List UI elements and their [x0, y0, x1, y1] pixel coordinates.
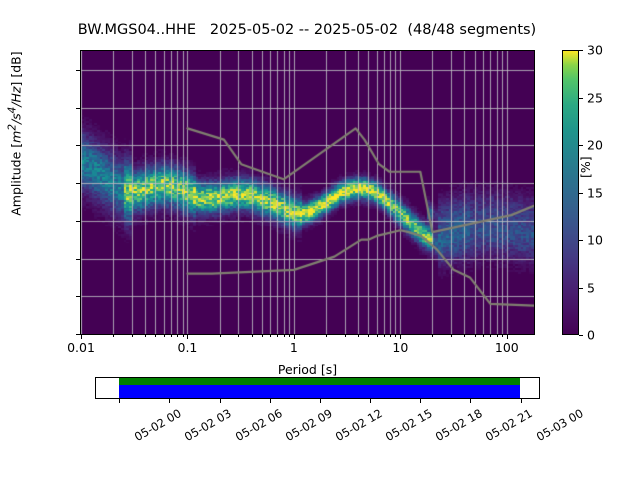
x-tick-mark-minor: [464, 335, 465, 337]
x-tick-mark-minor: [145, 335, 146, 337]
colorbar-tick-label: 15: [587, 185, 603, 200]
colorbar: [562, 50, 579, 335]
timeline-tick-label: 05-02 00: [132, 406, 184, 444]
colorbar-tick-label: 5: [587, 280, 595, 295]
x-tick-label: 100: [495, 340, 519, 355]
x-tick-label: 0.01: [67, 340, 95, 355]
timeline-tick-label: 05-02 15: [383, 406, 435, 444]
colorbar-tick-mark: [579, 240, 583, 241]
x-tick-mark-minor: [183, 335, 184, 337]
timeline-tick-mark: [220, 399, 221, 403]
ppsd-figure: BW.MGS04..HHE 2025-05-02 -- 2025-05-02 (…: [0, 0, 640, 480]
x-tick-mark-minor: [390, 335, 391, 337]
y-axis-label: Amplitude [m2/s4/Hz] [dB]: [6, 0, 23, 299]
timeline-tick-mark: [119, 399, 120, 403]
timeline-tick-label: 05-02 03: [182, 406, 234, 444]
colorbar-tick-label: 30: [587, 43, 603, 58]
x-tick-mark-minor: [395, 335, 396, 337]
ppsd-plot-area[interactable]: [80, 50, 535, 335]
x-tick-mark-minor: [220, 335, 221, 337]
x-tick-mark-minor: [326, 335, 327, 337]
colorbar-tick-label: 0: [587, 328, 595, 343]
x-tick-label: 0.1: [178, 340, 198, 355]
x-tick-mark-minor: [252, 335, 253, 337]
x-tick-mark-major: [81, 335, 82, 339]
timeline-tick-label: 05-02 21: [483, 406, 535, 444]
x-tick-mark-minor: [368, 335, 369, 337]
x-tick-mark-minor: [132, 335, 133, 337]
colorbar-tick-mark: [579, 335, 583, 336]
x-tick-mark-minor: [432, 335, 433, 337]
x-tick-mark-minor: [238, 335, 239, 337]
psd-coverage-bar: [119, 385, 520, 397]
timeline-tick-label: 05-03 00: [534, 406, 586, 444]
colorbar-tick-mark: [579, 50, 583, 51]
x-tick-mark-minor: [502, 335, 503, 337]
x-tick-label: 1: [290, 340, 298, 355]
x-tick-mark-major: [294, 335, 295, 339]
x-tick-mark-minor: [113, 335, 114, 337]
timeline-tick-label: 05-02 09: [283, 406, 335, 444]
grid-and-noise-model-overlay: [81, 51, 534, 334]
x-tick-mark-minor: [155, 335, 156, 337]
x-tick-mark-minor: [490, 335, 491, 337]
x-axis-label: Period [s]: [80, 362, 535, 377]
timeline-tick-label: 05-02 06: [232, 406, 284, 444]
x-tick-mark-minor: [262, 335, 263, 337]
x-tick-mark-minor: [497, 335, 498, 337]
colorbar-tick-label: 25: [587, 90, 603, 105]
x-tick-mark-minor: [177, 335, 178, 337]
colorbar-tick-label: 20: [587, 138, 603, 153]
timeline-tick-mark: [169, 399, 170, 403]
timeline-tick-mark: [521, 399, 522, 403]
x-tick-mark-minor: [451, 335, 452, 337]
timeline-tick-mark: [320, 399, 321, 403]
timeline-tick-label: 05-02 18: [433, 406, 485, 444]
x-tick-mark-minor: [475, 335, 476, 337]
page-title: BW.MGS04..HHE 2025-05-02 -- 2025-05-02 (…: [0, 22, 614, 38]
x-tick-mark-minor: [284, 335, 285, 337]
x-tick-label: 10: [392, 340, 408, 355]
x-tick-mark-major: [507, 335, 508, 339]
x-tick-mark-minor: [277, 335, 278, 337]
data-availability-bar: [119, 378, 520, 385]
timeline-tick-mark: [470, 399, 471, 403]
timeline-coverage-axes[interactable]: [95, 377, 540, 399]
x-tick-mark-minor: [270, 335, 271, 337]
x-tick-mark-minor: [345, 335, 346, 337]
timeline-tick-label: 05-02 12: [333, 406, 385, 444]
x-tick-mark-minor: [483, 335, 484, 337]
colorbar-tick-mark: [579, 288, 583, 289]
x-tick-mark-minor: [171, 335, 172, 337]
colorbar-tick-mark: [579, 193, 583, 194]
x-tick-mark-minor: [164, 335, 165, 337]
x-tick-mark-minor: [384, 335, 385, 337]
x-tick-mark-minor: [377, 335, 378, 337]
x-tick-mark-minor: [358, 335, 359, 337]
colorbar-label: [%]: [578, 156, 593, 178]
timeline-tick-mark: [370, 399, 371, 403]
colorbar-tick-label: 10: [587, 233, 603, 248]
x-tick-mark-minor: [289, 335, 290, 337]
x-tick-mark-major: [400, 335, 401, 339]
colorbar-tick-mark: [579, 145, 583, 146]
timeline-tick-mark: [270, 399, 271, 403]
colorbar-tick-mark: [579, 98, 583, 99]
x-tick-mark-major: [187, 335, 188, 339]
timeline-tick-mark: [420, 399, 421, 403]
